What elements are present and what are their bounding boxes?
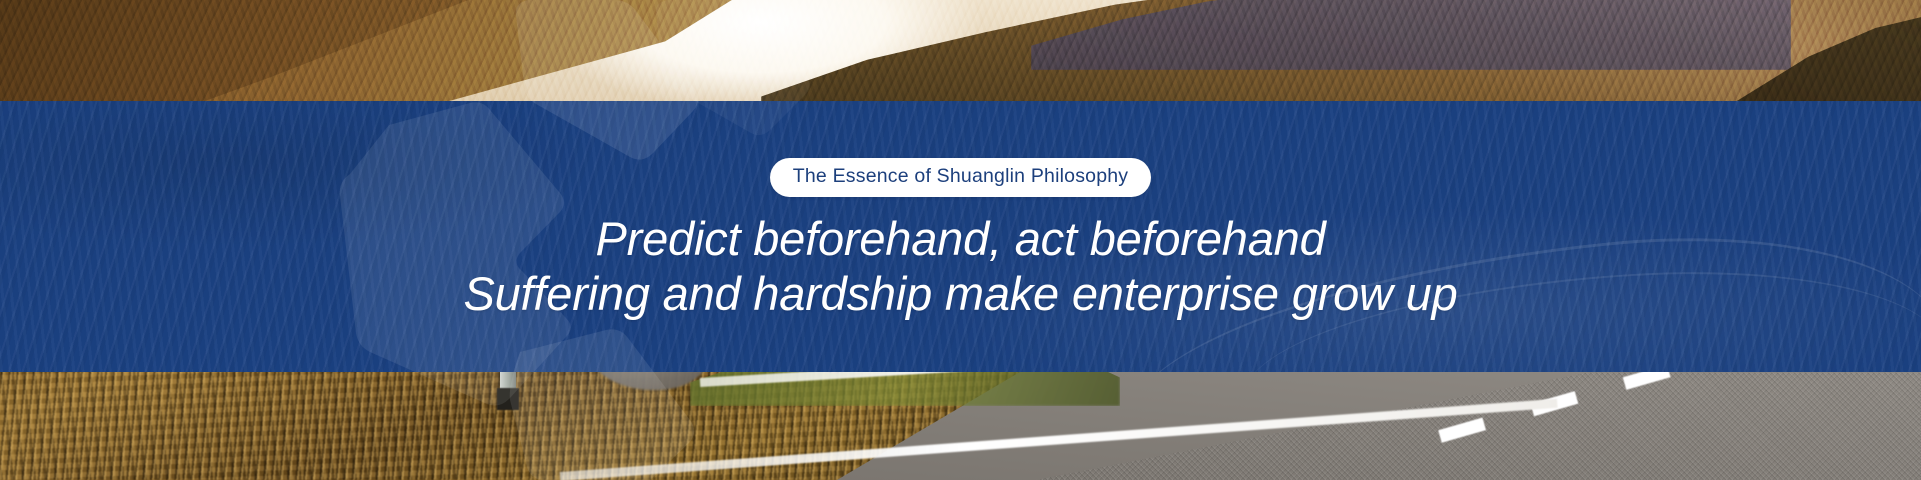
headline-block: Predict beforehand, act beforehand Suffe… bbox=[463, 211, 1457, 321]
headline-line-2: Suffering and hardship make enterprise g… bbox=[463, 266, 1457, 321]
headline-line-1: Predict beforehand, act beforehand bbox=[463, 211, 1457, 266]
philosophy-badge: The Essence of Shuanglin Philosophy bbox=[770, 158, 1151, 197]
roadside-marker-post-base bbox=[497, 388, 519, 410]
banner-content: The Essence of Shuanglin Philosophy Pred… bbox=[0, 101, 1921, 372]
hero-banner: The Essence of Shuanglin Philosophy Pred… bbox=[0, 0, 1921, 480]
